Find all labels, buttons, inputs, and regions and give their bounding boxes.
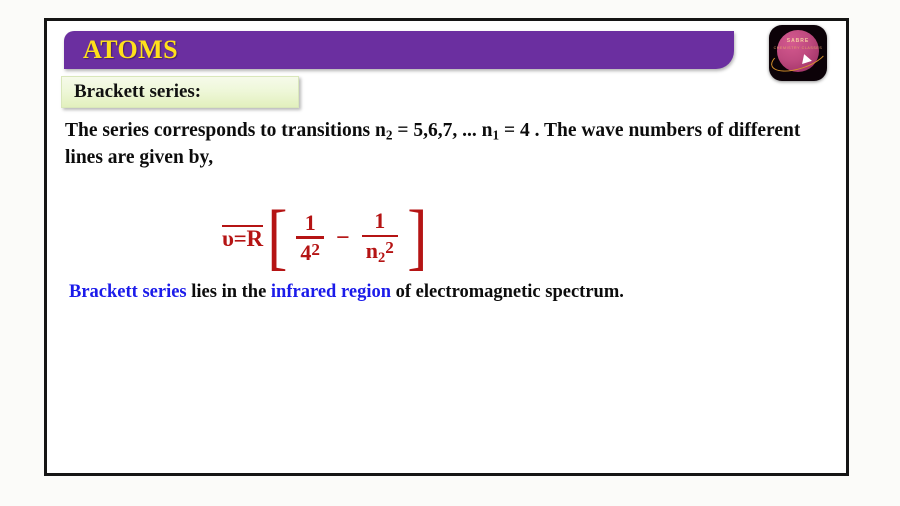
body-text-mid: = 5,6,7, ... n bbox=[392, 120, 492, 141]
denominator-base-n: n bbox=[366, 238, 378, 263]
logo-brand-text: SABRE bbox=[769, 38, 827, 44]
conclusion-text-1: lies in the bbox=[187, 282, 271, 302]
bracket-open: [ bbox=[267, 211, 287, 264]
denominator-exponent-2: 2 bbox=[385, 238, 394, 257]
fraction-right-numerator: 1 bbox=[367, 209, 392, 235]
conclusion-paragraph: Brackett series lies in the infrared reg… bbox=[69, 278, 689, 306]
body-text-prefix: The series corresponds to transitions n bbox=[65, 120, 386, 141]
formula-minus-operator: − bbox=[336, 226, 350, 250]
slide-frame: ATOMS SABRE CHEMISTRY CLASSES Brackett s… bbox=[44, 18, 849, 476]
logo-tagline-text: CHEMISTRY CLASSES bbox=[769, 46, 827, 50]
subheading-label: Brackett series: bbox=[74, 81, 201, 103]
fraction-right: 1 n22 bbox=[362, 209, 398, 266]
subheading-chip: Brackett series: bbox=[61, 76, 299, 108]
conclusion-text-2: of electromagnetic spectrum. bbox=[391, 282, 624, 302]
bracket-close: ] bbox=[407, 211, 427, 264]
logo-badge: SABRE CHEMISTRY CLASSES bbox=[769, 25, 827, 81]
conclusion-series-name: Brackett series bbox=[69, 282, 187, 302]
fraction-right-denominator: n22 bbox=[362, 237, 398, 266]
conclusion-region-name: infrared region bbox=[271, 282, 391, 302]
fraction-left-numerator: 1 bbox=[298, 211, 323, 237]
title-banner: ATOMS bbox=[64, 31, 734, 69]
fraction-left-denominator: 42 bbox=[296, 239, 324, 265]
fraction-left: 1 42 bbox=[296, 211, 324, 265]
denominator-exponent: 2 bbox=[311, 240, 320, 259]
page-title: ATOMS bbox=[83, 35, 178, 65]
body-paragraph: The series corresponds to transitions n2… bbox=[65, 118, 825, 172]
wavenumber-formula: υ=R [ 1 42 − 1 n22 ] bbox=[222, 193, 431, 283]
denominator-base: 4 bbox=[300, 240, 311, 265]
formula-left-side: υ=R bbox=[222, 227, 263, 250]
formula-nu-bar: υ=R bbox=[222, 227, 263, 250]
